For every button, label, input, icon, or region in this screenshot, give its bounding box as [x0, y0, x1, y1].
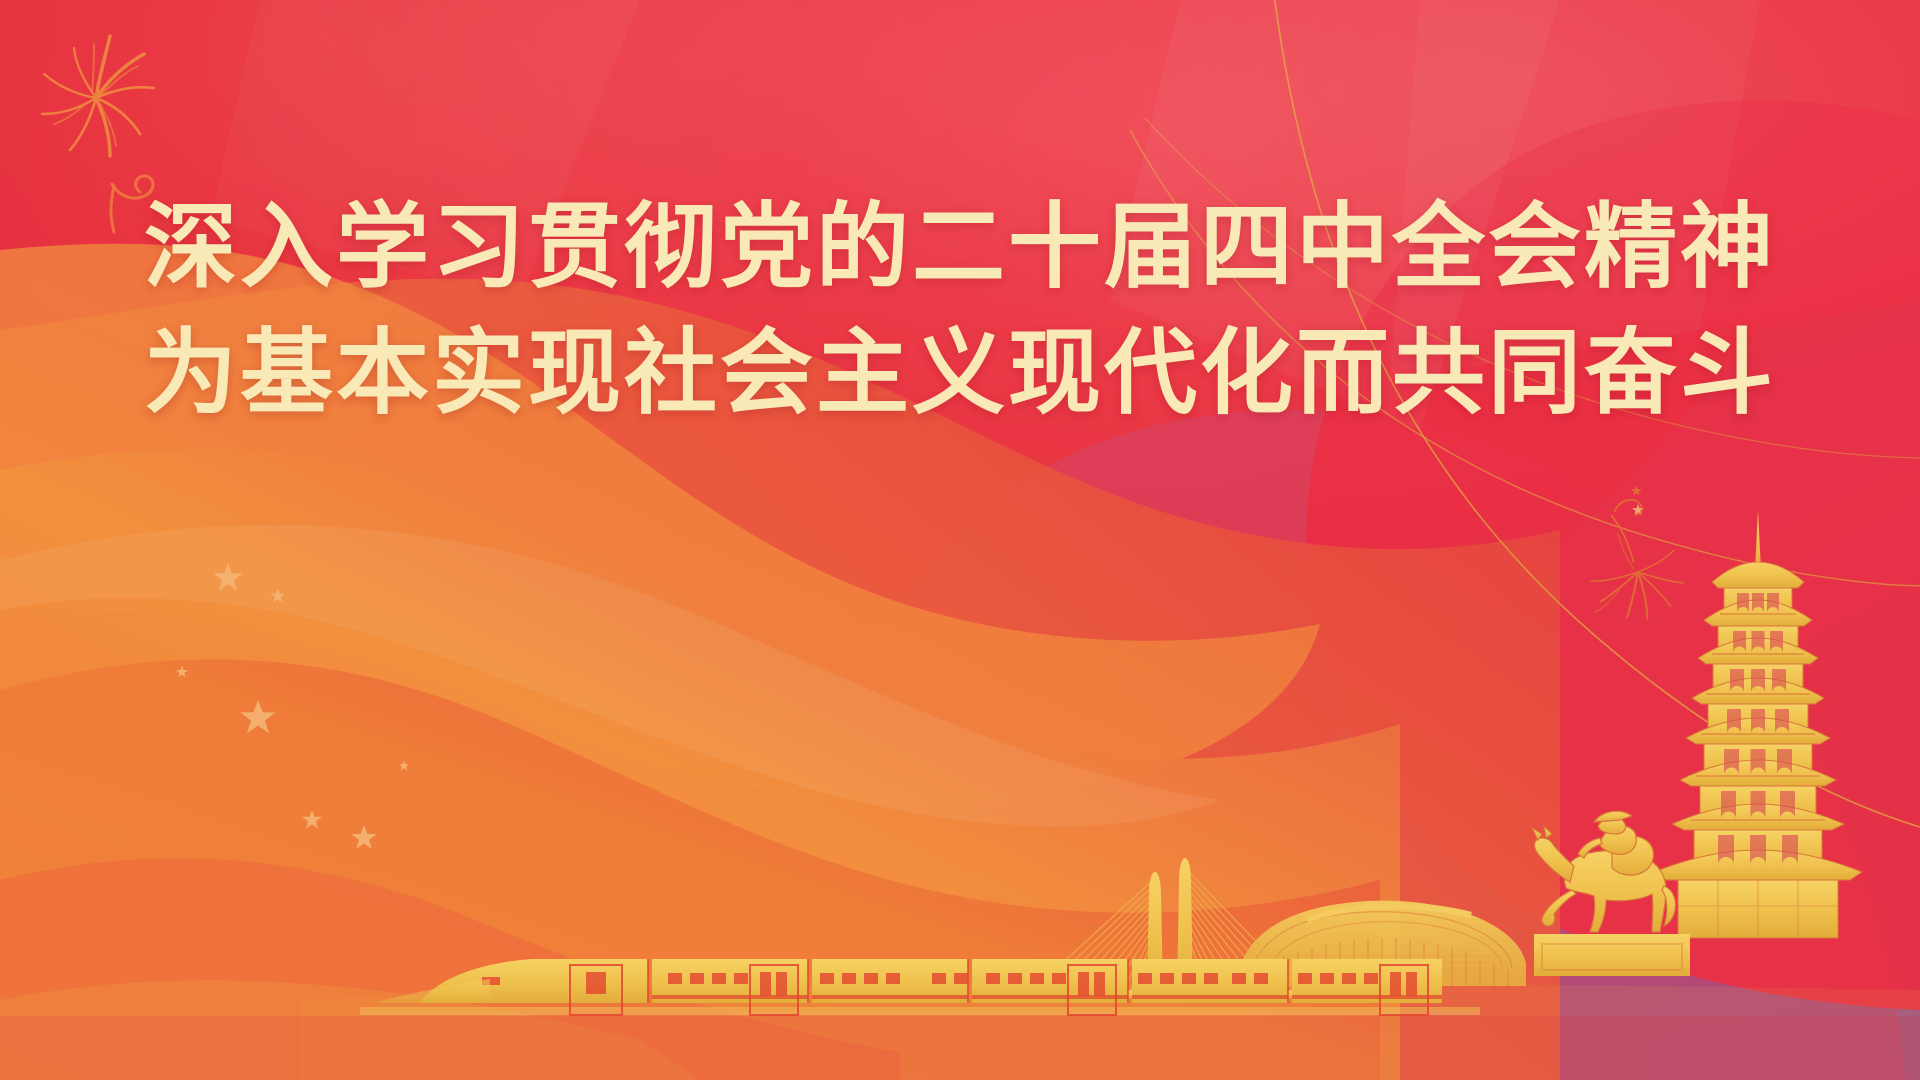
- background-shapes: [0, 0, 1920, 1080]
- headline-line-1: 深入学习贯彻党的二十届四中全会精神: [0, 186, 1920, 308]
- poster-canvas: 深入学习贯彻党的二十届四中全会精神 为基本实现社会主义现代化而共同奋斗: [0, 0, 1920, 1080]
- headline-block: 深入学习贯彻党的二十届四中全会精神 为基本实现社会主义现代化而共同奋斗: [0, 186, 1920, 434]
- bottom-haze: [0, 1016, 1920, 1080]
- headline-line-2: 为基本实现社会主义现代化而共同奋斗: [0, 312, 1920, 434]
